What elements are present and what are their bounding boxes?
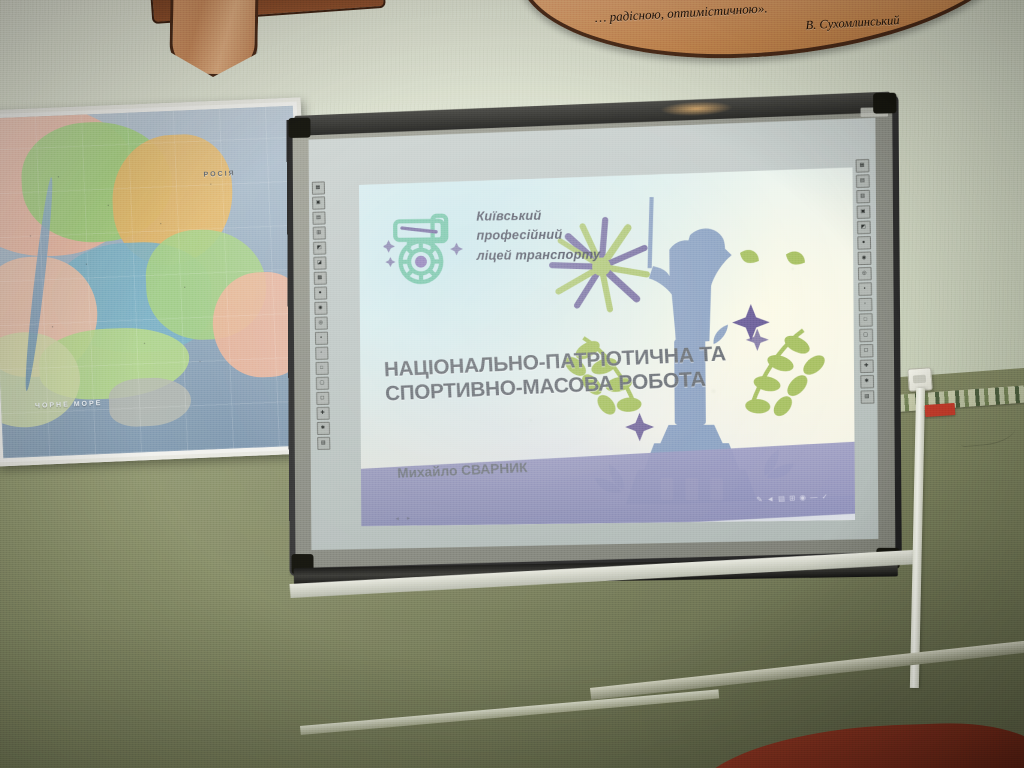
map-surface: РОСІЯ ЧОРНЕ МОРЕ — [0, 106, 307, 458]
tool-button-r9-icon[interactable]: ▪ — [858, 282, 872, 296]
tool-button-1-icon[interactable]: ▦ — [311, 181, 324, 194]
presentation-slide[interactable]: Київський професійний ліцей транспорту Н… — [359, 167, 855, 527]
tool-button-r8-icon[interactable]: ◎ — [857, 267, 871, 281]
tool-button-9-icon[interactable]: ◉ — [314, 302, 327, 315]
toolbar-icon-6[interactable]: — — [810, 494, 818, 501]
tool-button-6-icon[interactable]: ◪ — [313, 256, 326, 269]
tool-button-11-icon[interactable]: ▪ — [314, 332, 327, 345]
tool-button-r14-icon[interactable]: ✚ — [859, 359, 873, 373]
tool-button-r11-icon[interactable]: □ — [858, 313, 872, 327]
tool-button-13-icon[interactable]: □ — [315, 362, 328, 375]
outlet-slot — [913, 375, 927, 384]
toolbar-icon-2[interactable]: ◄ — [766, 496, 774, 503]
tool-button-17-icon[interactable]: ✱ — [316, 422, 329, 435]
whiteboard-corner — [288, 118, 310, 138]
toolbar-icon-5[interactable]: ◉ — [799, 495, 806, 502]
tool-button-r10-icon[interactable]: ▫ — [858, 298, 872, 312]
whiteboard-corner — [873, 93, 896, 114]
tool-button-8-icon[interactable]: ● — [313, 287, 326, 300]
tool-button-2-icon[interactable]: ▣ — [312, 196, 325, 209]
toolbar-icon-1[interactable]: ✎ — [756, 497, 763, 504]
whiteboard-screen[interactable]: Київський професійний ліцей транспорту Н… — [308, 118, 878, 552]
tool-button-r2-icon[interactable]: ▤ — [855, 174, 869, 188]
tool-button-4-icon[interactable]: ▥ — [312, 226, 325, 239]
tool-button-14-icon[interactable]: ▢ — [315, 377, 328, 390]
pager-prev-icon[interactable]: ◂ — [395, 514, 399, 522]
tool-button-r13-icon[interactable]: ◻ — [859, 344, 873, 358]
tool-button-16-icon[interactable]: ✚ — [316, 407, 329, 420]
pager-next-icon[interactable]: ▸ — [407, 514, 411, 522]
tool-button-r16-icon[interactable]: ▧ — [860, 390, 874, 404]
tool-button-r4-icon[interactable]: ▣ — [856, 205, 870, 219]
tool-button-r6-icon[interactable]: ● — [857, 236, 871, 250]
tool-button-r1-icon[interactable]: ▦ — [855, 159, 869, 173]
tool-button-7-icon[interactable]: ▩ — [313, 272, 326, 285]
tool-button-3-icon[interactable]: ▤ — [312, 211, 325, 224]
toolbar-icon-3[interactable]: ▤ — [778, 496, 785, 503]
tool-button-10-icon[interactable]: ◎ — [314, 317, 327, 330]
lamp-reflection — [660, 100, 733, 117]
lyceum-name-line-1: Київський — [476, 206, 600, 227]
leaf-icon — [740, 249, 805, 265]
tool-button-r5-icon[interactable]: ◩ — [856, 221, 870, 235]
tool-button-15-icon[interactable]: ◻ — [316, 392, 329, 405]
classroom-photo-scene: … радісною, оптимістичною». В. Сухомлинс… — [0, 0, 1024, 768]
lyceum-name: Київський професійний ліцей транспорту — [476, 206, 600, 266]
slide-pager[interactable]: ◂ ▸ — [395, 514, 410, 523]
interactive-whiteboard[interactable]: Київський професійний ліцей транспорту Н… — [286, 95, 902, 579]
tool-button-12-icon[interactable]: ▫ — [315, 347, 328, 360]
transport-lyceum-emblem-icon — [383, 204, 469, 290]
tool-button-r7-icon[interactable]: ◉ — [857, 251, 871, 265]
toolbar-icon-4[interactable]: ⊞ — [789, 495, 796, 502]
red-warning-label — [925, 403, 956, 417]
tool-button-18-icon[interactable]: ▧ — [317, 437, 330, 450]
lyceum-name-line-3: ліцей транспорту — [477, 245, 601, 266]
lyceum-name-line-2: професійний — [476, 225, 600, 246]
toolbar-icon-7[interactable]: ✓ — [821, 494, 828, 501]
tool-button-r3-icon[interactable]: ▥ — [856, 190, 870, 204]
tool-button-r12-icon[interactable]: ▢ — [859, 329, 873, 343]
map-label-russia: РОСІЯ — [203, 170, 235, 178]
wall-map-ukraine: РОСІЯ ЧОРНЕ МОРЕ — [0, 97, 315, 466]
tool-button-5-icon[interactable]: ◩ — [313, 241, 326, 254]
tool-button-r15-icon[interactable]: ✱ — [860, 375, 874, 389]
lyceum-logo — [383, 204, 469, 290]
